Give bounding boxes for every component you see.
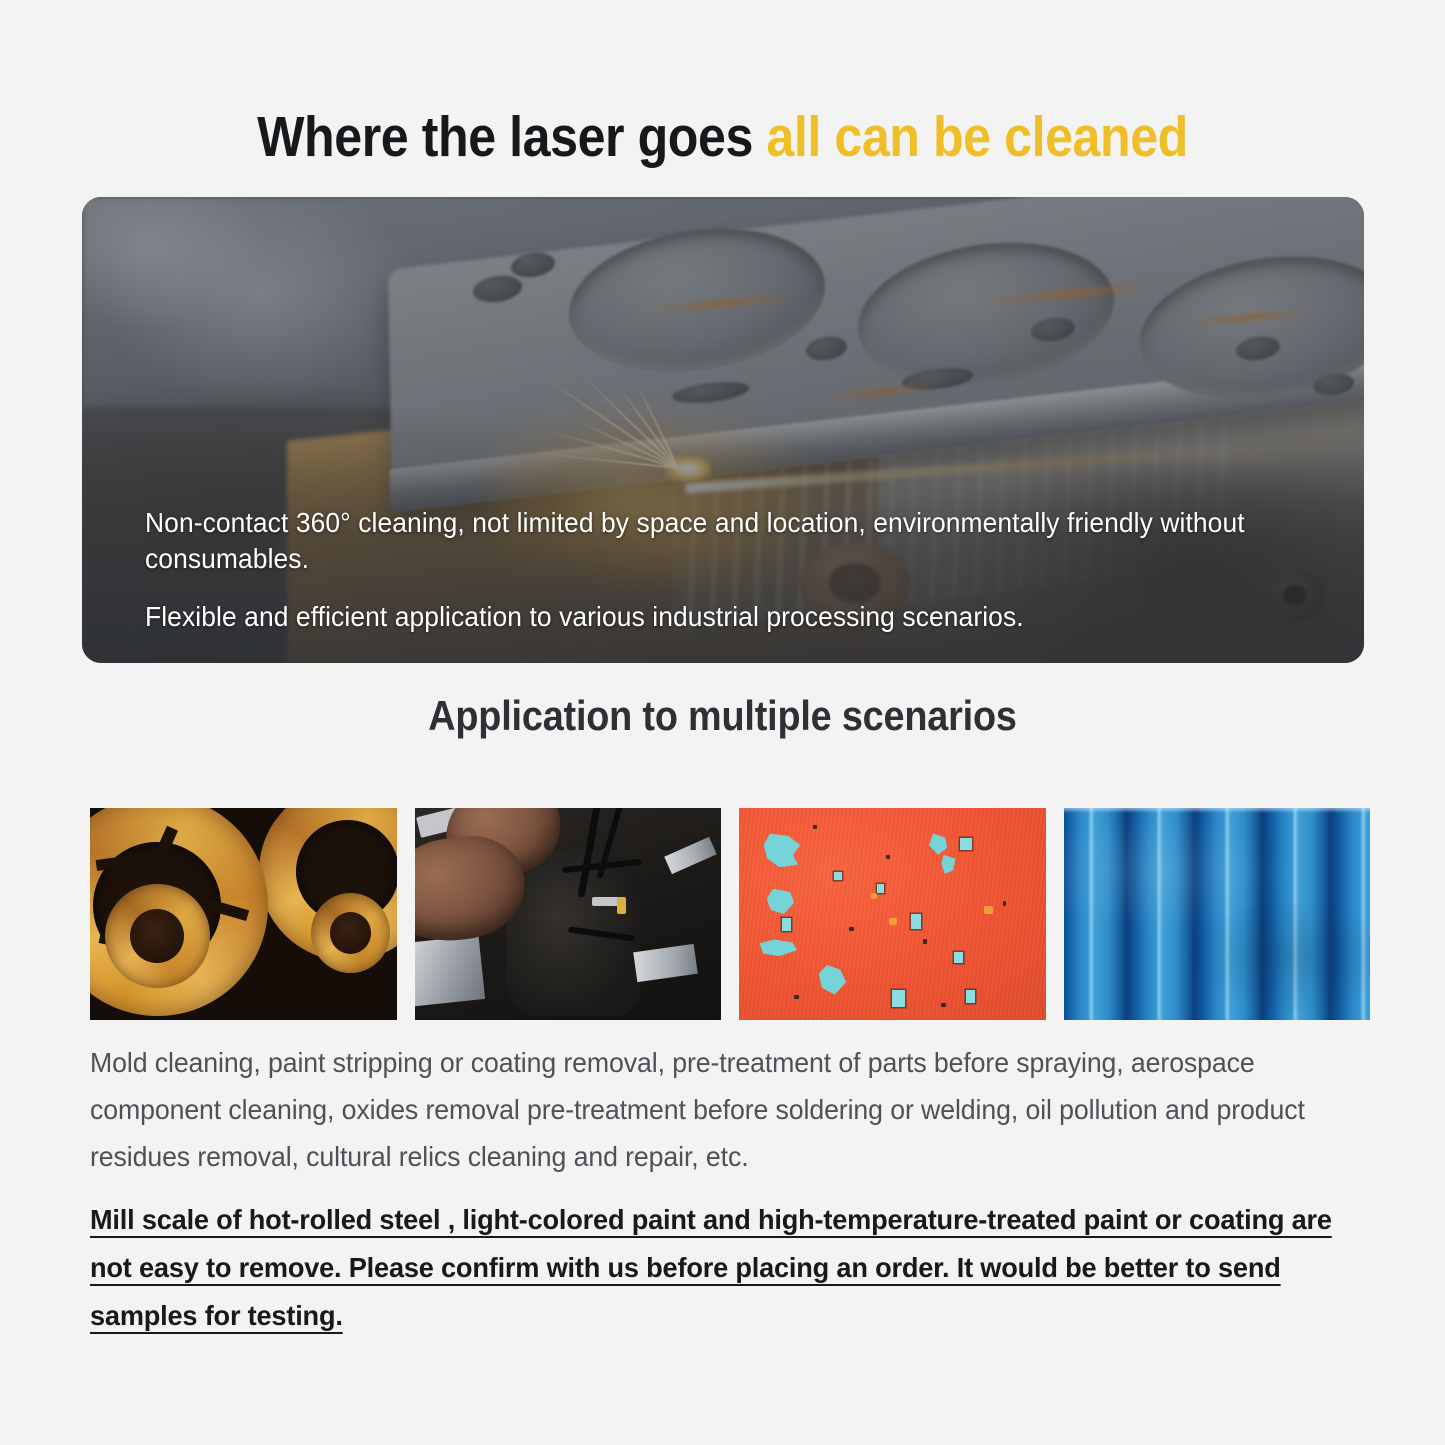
paint-speck — [886, 855, 890, 859]
product-feature-page: Where the laser goes all can be cleaned — [0, 0, 1445, 1445]
paint-speck — [794, 995, 799, 999]
paint-speck — [849, 927, 853, 931]
paint-speck — [813, 825, 818, 829]
paint-chip — [877, 884, 884, 892]
page-headline: Where the laser goes all can be cleaned — [87, 108, 1359, 168]
exposed-primer-spot — [871, 893, 877, 899]
hero-banner: Non-contact 360° cleaning, not limited b… — [82, 197, 1364, 663]
rusty-wheel-front-hub — [105, 884, 209, 988]
paint-chip — [911, 914, 922, 929]
thumbnail-rusty-gear-wheels — [90, 808, 397, 1020]
hero-caption-line-2: Flexible and efficient application to va… — [145, 599, 1258, 635]
exposed-primer-spot — [984, 906, 993, 914]
yellow-connector — [617, 897, 626, 914]
paint-chip — [954, 952, 963, 963]
paint-speck — [923, 939, 927, 943]
paint-speck — [941, 1003, 945, 1007]
paint-chip — [892, 990, 904, 1007]
important-note: Mill scale of hot-rolled steel , light-c… — [90, 1196, 1336, 1340]
headline-primary-text: Where the laser goes — [257, 105, 766, 169]
paint-speck — [1003, 901, 1007, 905]
hero-caption-line-1: Non-contact 360° cleaning, not limited b… — [145, 505, 1258, 577]
bright-metal-part — [664, 837, 717, 874]
thumbnail-orange-paint-peeling — [739, 808, 1046, 1020]
headline-accent-text: all can be cleaned — [766, 105, 1187, 169]
thumbnail-engine-repair-hands — [415, 808, 722, 1020]
scenario-thumbnail-strip — [90, 808, 1370, 1020]
paint-chip — [960, 838, 972, 851]
scenario-description-paragraph: Mold cleaning, paint stripping or coatin… — [90, 1040, 1336, 1180]
important-note-text: Mill scale of hot-rolled steel , light-c… — [90, 1204, 1332, 1331]
panel-texture — [1064, 808, 1371, 1020]
paint-chip — [782, 918, 791, 931]
panel-top-edge — [1064, 808, 1371, 813]
rusty-wheel-back-hub — [311, 893, 391, 974]
bright-metal-part — [633, 944, 698, 982]
exposed-primer-spot — [889, 918, 896, 924]
thumbnail-blue-corrugated-panel — [1064, 808, 1371, 1020]
paint-chip — [966, 990, 975, 1003]
section-title: Application to multiple scenarios — [72, 692, 1373, 740]
metal-bracket — [415, 936, 486, 1007]
wire-harness — [592, 897, 620, 905]
paint-chip — [834, 872, 842, 880]
hero-caption-block: Non-contact 360° cleaning, not limited b… — [145, 505, 1304, 635]
